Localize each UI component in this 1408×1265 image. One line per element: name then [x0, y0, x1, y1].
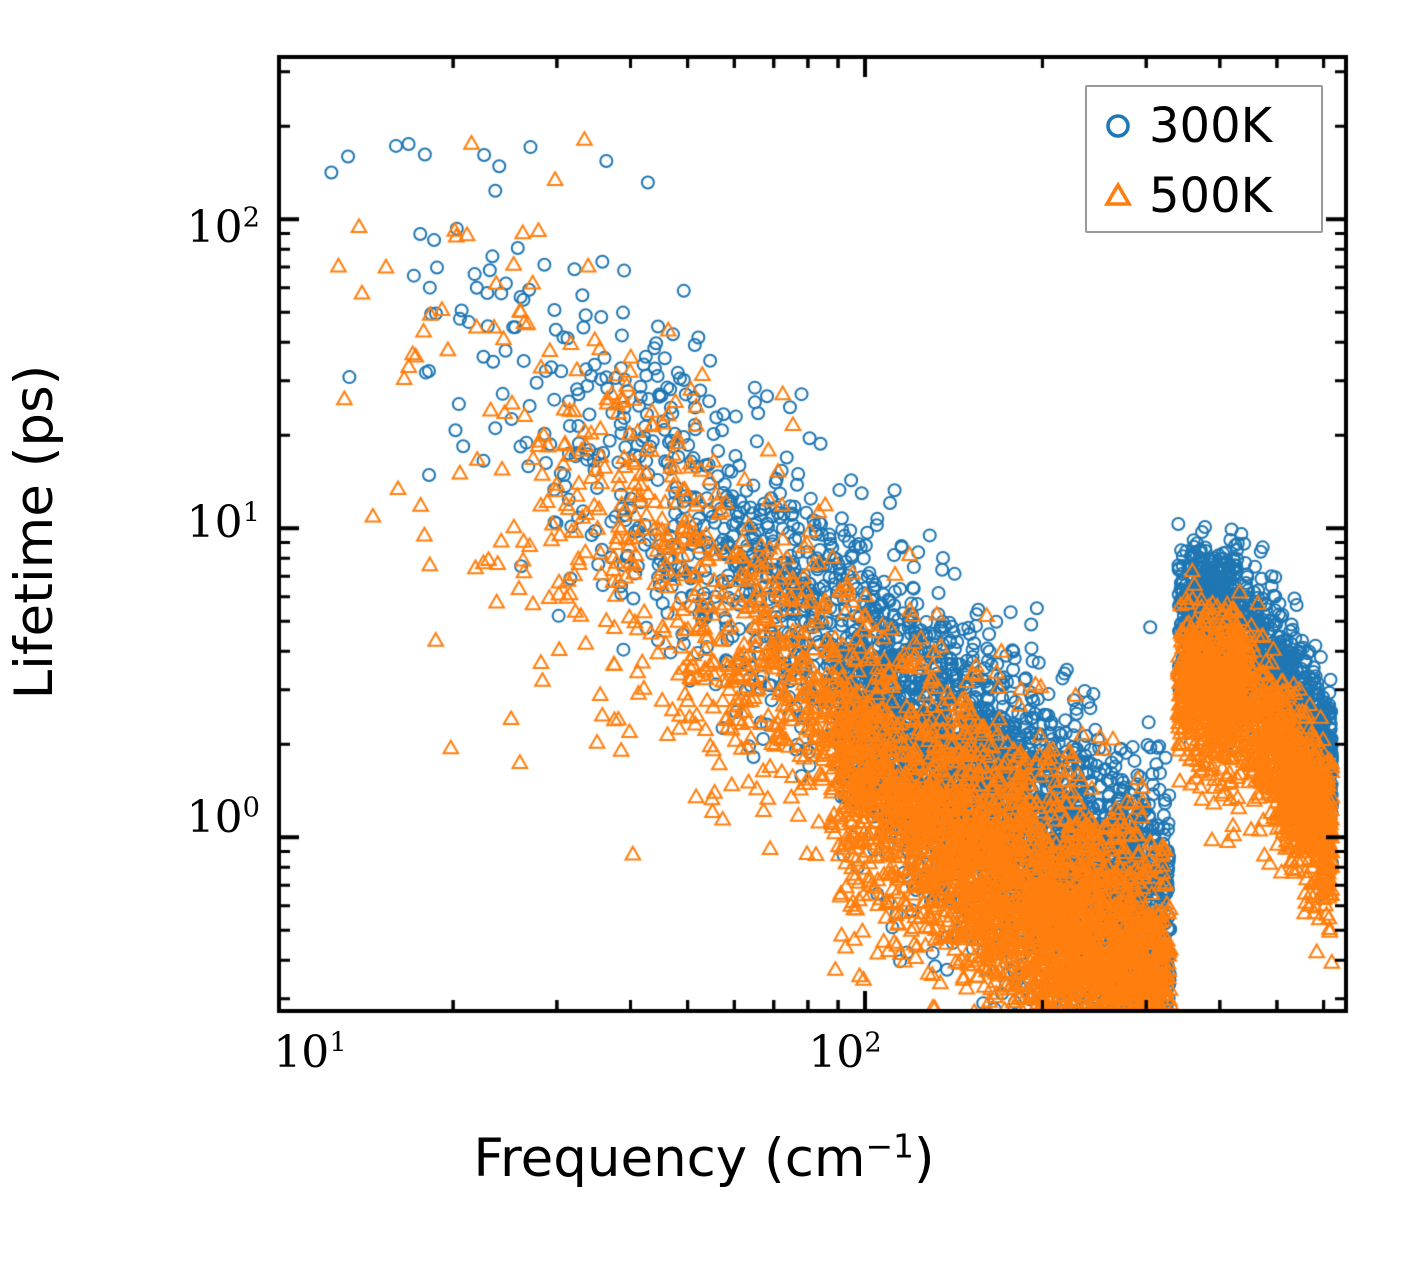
x-axis-label: Frequency (cm−1) — [0, 1128, 1408, 1190]
y-tick-label-10e0: 100 — [20, 793, 260, 843]
x-tick-label-10e1: 101 — [210, 1028, 410, 1078]
y-tick-label-10e1: 101 — [20, 498, 260, 548]
legend-box[interactable]: 300K 500K — [1085, 85, 1323, 233]
legend-marker-triangle-500k — [1087, 179, 1149, 213]
legend-marker-circle-300k — [1087, 109, 1149, 143]
legend-entry-300k[interactable]: 300K — [1087, 95, 1325, 157]
legend-entry-500k[interactable]: 500K — [1087, 165, 1325, 227]
legend-label-300k: 300K — [1149, 100, 1272, 152]
legend-label-500k: 500K — [1149, 170, 1272, 222]
y-tick-label-10e2: 102 — [20, 203, 260, 253]
x-tick-label-10e2: 102 — [745, 1028, 945, 1078]
figure-canvas: 101 102 102 101 100 Frequency (cm−1) Lif… — [0, 0, 1408, 1265]
